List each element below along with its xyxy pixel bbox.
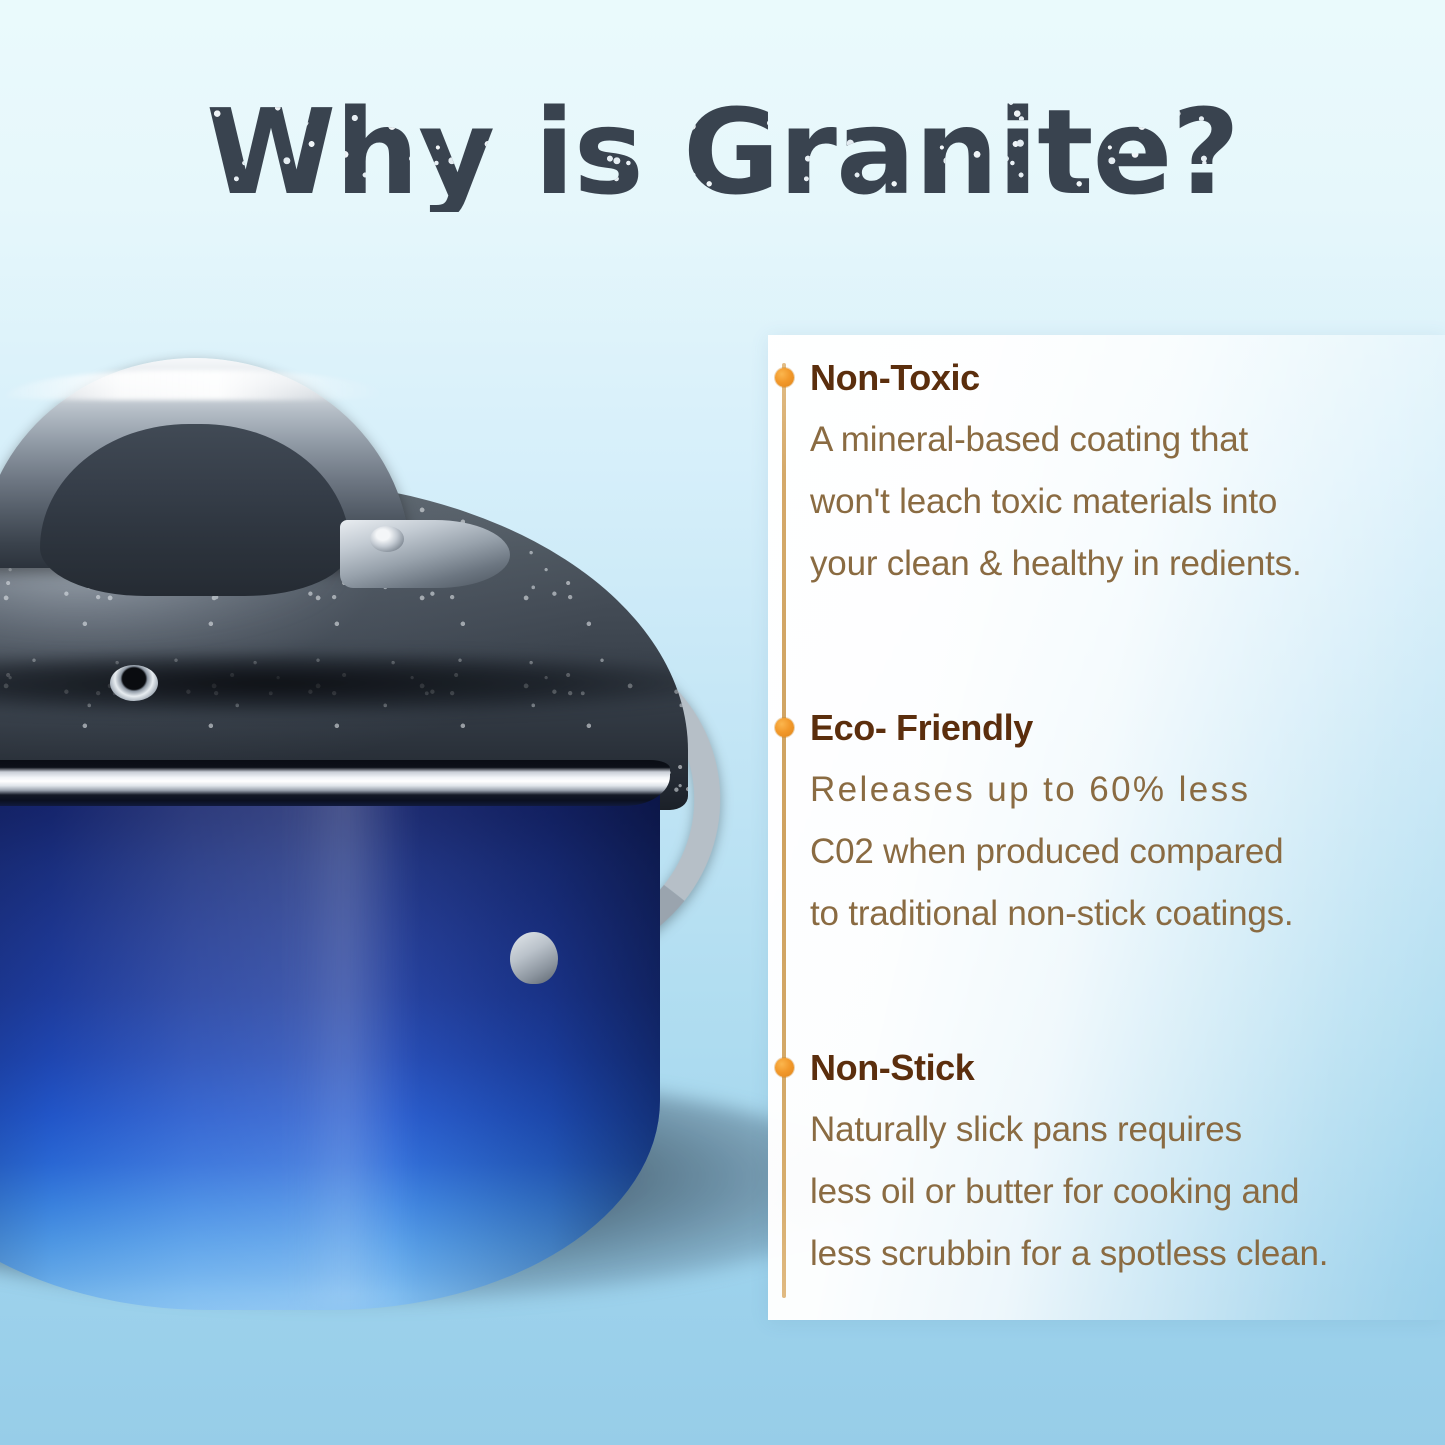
bullet-dot-icon bbox=[775, 368, 794, 387]
lid-handle-mount-plate bbox=[340, 520, 510, 588]
feature-line: less oil or butter for cooking and bbox=[810, 1172, 1299, 1211]
timeline-vertical-line bbox=[782, 363, 786, 1298]
lid-handle-opening bbox=[40, 424, 350, 596]
title-banner: Why is Granite? bbox=[0, 92, 1445, 212]
feature-line: Naturally slick pans requires bbox=[810, 1110, 1242, 1149]
side-handle-rivet-icon bbox=[510, 932, 558, 984]
feature-heading: Eco- Friendly bbox=[810, 707, 1033, 749]
feature-heading: Non-Stick bbox=[810, 1047, 974, 1089]
feature-description: Naturally slick pans requires less oil o… bbox=[810, 1099, 1438, 1285]
feature-line: won't leach toxic materials into bbox=[810, 482, 1277, 521]
feature-description: Releases up to 60% less C02 when produce… bbox=[810, 759, 1438, 945]
feature-line: less scrubbin for a spotless clean. bbox=[810, 1234, 1328, 1273]
feature-line: Releases up to 60% less bbox=[810, 770, 1250, 809]
feature-line: C02 when produced compared bbox=[810, 832, 1283, 871]
product-image-cookpot bbox=[0, 330, 750, 1340]
lid-steam-vent-icon bbox=[110, 665, 158, 701]
page-title: Why is Granite? bbox=[206, 92, 1239, 212]
lid-handle-specular-shine bbox=[6, 370, 386, 400]
pot-body bbox=[0, 785, 660, 1310]
pot-stainless-rim bbox=[0, 760, 670, 806]
feature-line: your clean & healthy in redients. bbox=[810, 544, 1301, 583]
bullet-dot-icon bbox=[775, 1058, 794, 1077]
bullet-dot-icon bbox=[775, 718, 794, 737]
lid-handle-rivet-icon bbox=[370, 526, 404, 552]
features-panel: Non-Toxic A mineral-based coating that w… bbox=[768, 335, 1445, 1320]
feature-line: to traditional non-stick coatings. bbox=[810, 894, 1293, 933]
feature-line: A mineral-based coating that bbox=[810, 420, 1248, 459]
lid-reflection-band bbox=[0, 652, 688, 714]
feature-description: A mineral-based coating that won't leach… bbox=[810, 409, 1438, 595]
feature-heading: Non-Toxic bbox=[810, 357, 980, 399]
